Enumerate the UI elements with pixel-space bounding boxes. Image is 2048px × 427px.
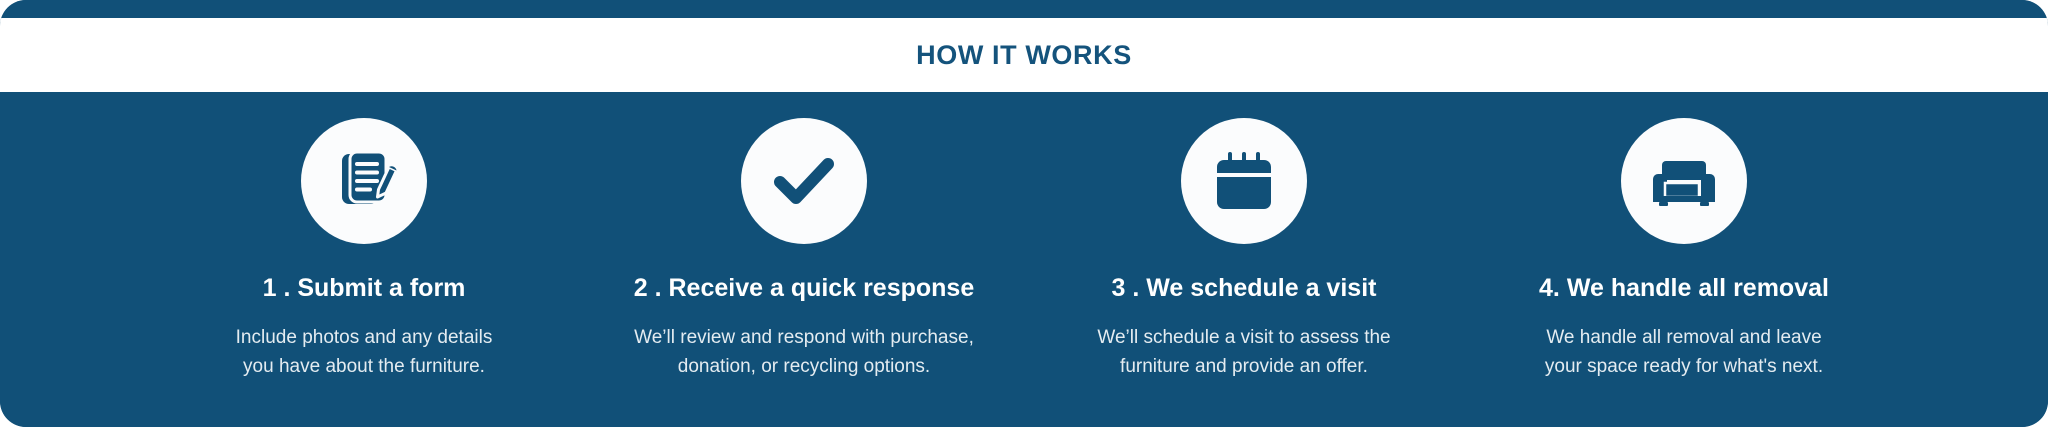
sofa-icon [1646, 143, 1722, 219]
step-1-icon-circle [301, 118, 427, 244]
step-item-3: 3 . We schedule a visit We’ll schedule a… [1024, 118, 1464, 382]
step-4-description-line-2: your space ready for what's next. [1545, 352, 1823, 381]
step-2-description: We’ll review and respond with purchase, … [634, 323, 974, 382]
step-2-heading: 2 . Receive a quick response [634, 274, 974, 303]
step-item-4: 4. We handle all removal We handle all r… [1464, 118, 1904, 382]
section-title-band: HOW IT WORKS [0, 18, 2048, 92]
step-4-heading: 4. We handle all removal [1539, 274, 1829, 303]
section-title: HOW IT WORKS [916, 42, 1132, 69]
step-4-description-line-1: We handle all removal and leave [1545, 323, 1823, 352]
step-3-description-line-1: We’ll schedule a visit to assess the [1097, 323, 1390, 352]
step-1-heading: 1 . Submit a form [263, 274, 466, 303]
step-1-description: Include photos and any details you have … [236, 323, 493, 382]
calendar-icon [1208, 145, 1280, 217]
step-4-description: We handle all removal and leave your spa… [1545, 323, 1823, 382]
form-pencil-icon [328, 145, 400, 217]
checkmark-icon [765, 142, 843, 220]
steps-row: 1 . Submit a form Include photos and any… [0, 92, 2048, 427]
section-card: HOW IT WORKS [0, 0, 2048, 427]
step-3-description: We’ll schedule a visit to assess the fur… [1097, 323, 1390, 382]
top-accent-strip [0, 0, 2048, 18]
step-4-icon-circle [1621, 118, 1747, 244]
step-1-description-line-2: you have about the furniture. [236, 352, 493, 381]
step-2-icon-circle [741, 118, 867, 244]
step-3-description-line-2: furniture and provide an offer. [1097, 352, 1390, 381]
step-2-description-line-2: donation, or recycling options. [634, 352, 974, 381]
how-it-works-section: HOW IT WORKS [0, 0, 2048, 427]
step-3-icon-circle [1181, 118, 1307, 244]
step-item-2: 2 . Receive a quick response We’ll revie… [584, 118, 1024, 382]
step-3-heading: 3 . We schedule a visit [1112, 274, 1377, 303]
step-1-description-line-1: Include photos and any details [236, 323, 493, 352]
step-item-1: 1 . Submit a form Include photos and any… [144, 118, 584, 382]
step-2-description-line-1: We’ll review and respond with purchase, [634, 323, 974, 352]
